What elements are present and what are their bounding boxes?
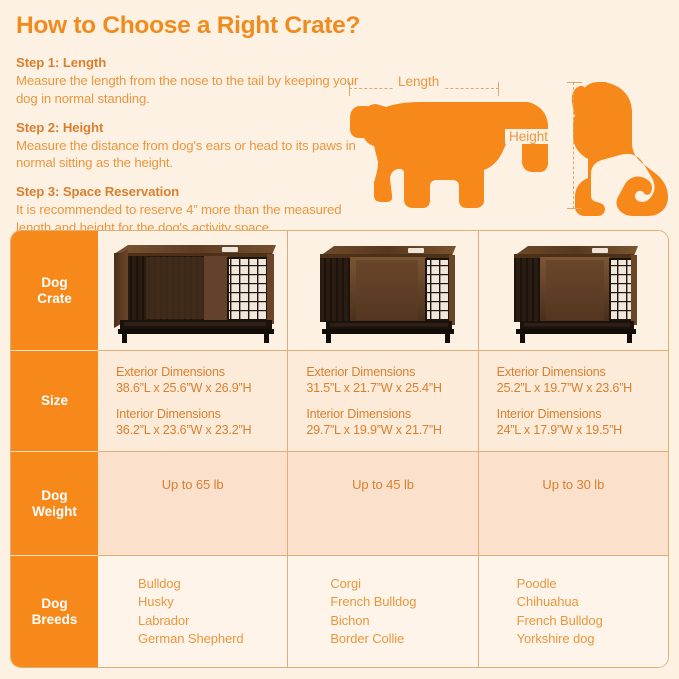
exterior-heading-medium: Exterior Dimensions <box>306 364 477 381</box>
interior-value-medium: 29.7”L x 19.9”W x 21.7”H <box>306 422 477 439</box>
breeds-cell-large: Bulldog Husky Labrador German Shepherd <box>98 556 288 667</box>
size-cell-small: Exterior Dimensions 25.2”L x 19.7”W x 23… <box>479 351 668 452</box>
height-label: Height <box>505 129 552 144</box>
size-cells: Exterior Dimensions 38.6”L x 25.6”W x 26… <box>98 351 668 452</box>
crate-cell-medium <box>288 231 478 351</box>
interior-dimensions-medium: Interior Dimensions 29.7”L x 19.9”W x 21… <box>288 406 477 439</box>
row-label-dog-weight-line2: Weight <box>32 504 77 519</box>
step-2-heading: Step 2: Height <box>16 119 376 136</box>
length-label: Length <box>394 74 443 89</box>
row-label-dog-weight-line1: Dog <box>41 488 67 503</box>
table-row-dog-weight: Dog Weight Up to 65 lb Up to 45 lb Up to… <box>11 452 668 556</box>
exterior-dimensions-large: Exterior Dimensions 38.6”L x 25.6”W x 26… <box>98 364 287 397</box>
step-2-body: Measure the distance from dog's ears or … <box>16 137 376 172</box>
breeds-cell-medium: Corgi French Bulldog Bichon Border Colli… <box>288 556 478 667</box>
interior-value-small: 24”L x 17.9”W x 19.5”H <box>497 422 668 439</box>
breed-item: French Bulldog <box>517 612 668 631</box>
breeds-list-small: Poodle Chihuahua French Bulldog Yorkshir… <box>479 575 668 649</box>
dog-sitting-silhouette-icon <box>572 82 668 216</box>
step-1-body: Measure the length from the nose to the … <box>16 72 376 107</box>
weight-cell-small: Up to 30 lb <box>479 452 668 556</box>
dog-standing-silhouette-icon <box>350 102 548 208</box>
exterior-value-large: 38.6”L x 25.6”W x 26.9”H <box>116 380 287 397</box>
row-label-dog-breeds-line2: Breeds <box>32 612 78 627</box>
interior-heading-small: Interior Dimensions <box>497 406 668 423</box>
exterior-heading-large: Exterior Dimensions <box>116 364 287 381</box>
row-label-dog-crate: Dog Crate <box>11 231 98 351</box>
infographic-page: How to Choose a Right Crate? Step 1: Len… <box>0 0 679 679</box>
crate-image-small <box>479 231 668 350</box>
crate-image-large <box>98 231 287 350</box>
breed-item: Chihuahua <box>517 593 668 612</box>
interior-heading-medium: Interior Dimensions <box>306 406 477 423</box>
breed-item: Corgi <box>330 575 477 594</box>
table-row-dog-crate: Dog Crate <box>11 231 668 351</box>
crate-comparison-table: Dog Crate <box>10 230 669 668</box>
weight-cell-medium: Up to 45 lb <box>288 452 478 556</box>
step-item-1: Step 1: Length Measure the length from t… <box>16 54 376 107</box>
length-rule-cap-right <box>498 82 499 96</box>
weight-value-large: Up to 65 lb <box>98 477 287 492</box>
row-label-size: Size <box>11 351 98 452</box>
row-label-dog-crate-line1: Dog <box>41 275 67 290</box>
height-rule-cap-top <box>567 82 582 83</box>
table-row-dog-breeds: Dog Breeds Bulldog Husky Labrador German… <box>11 556 668 667</box>
row-label-dog-weight: Dog Weight <box>11 452 98 556</box>
dog-weight-cells: Up to 65 lb Up to 45 lb Up to 30 lb <box>98 452 668 556</box>
height-rule-cap-bottom <box>567 208 582 209</box>
length-rule-cap-left <box>349 82 350 96</box>
crate-cell-small <box>479 231 668 351</box>
height-measure-rule <box>573 82 575 209</box>
breed-item: Poodle <box>517 575 668 594</box>
exterior-heading-small: Exterior Dimensions <box>497 364 668 381</box>
table-row-size: Size Exterior Dimensions 38.6”L x 25.6”W… <box>11 351 668 452</box>
row-label-dog-breeds: Dog Breeds <box>11 556 98 667</box>
exterior-dimensions-small: Exterior Dimensions 25.2”L x 19.7”W x 23… <box>479 364 668 397</box>
step-1-heading: Step 1: Length <box>16 54 376 71</box>
weight-value-medium: Up to 45 lb <box>288 477 477 492</box>
row-label-dog-breeds-line1: Dog <box>41 596 67 611</box>
dog-breeds-cells: Bulldog Husky Labrador German Shepherd C… <box>98 556 668 667</box>
step-item-2: Step 2: Height Measure the distance from… <box>16 119 376 172</box>
weight-cell-large: Up to 65 lb <box>98 452 288 556</box>
breed-item: Yorkshire dog <box>517 630 668 649</box>
breed-item: Bulldog <box>138 575 287 594</box>
crate-image-medium <box>288 231 477 350</box>
breeds-list-medium: Corgi French Bulldog Bichon Border Colli… <box>288 575 477 649</box>
interior-value-large: 36.2”L x 23.6”W x 23.2”H <box>116 422 287 439</box>
breeds-list-large: Bulldog Husky Labrador German Shepherd <box>98 575 287 649</box>
step-3-heading: Step 3: Space Reservation <box>16 183 376 200</box>
exterior-value-small: 25.2”L x 19.7”W x 23.6”H <box>497 380 668 397</box>
interior-dimensions-large: Interior Dimensions 36.2”L x 23.6”W x 23… <box>98 406 287 439</box>
dog-crate-cells <box>98 231 668 351</box>
breeds-cell-small: Poodle Chihuahua French Bulldog Yorkshir… <box>479 556 668 667</box>
dog-silhouettes-graphic <box>330 66 675 226</box>
size-cell-medium: Exterior Dimensions 31.5”L x 21.7”W x 25… <box>288 351 478 452</box>
breed-item: German Shepherd <box>138 630 287 649</box>
exterior-value-medium: 31.5”L x 21.7”W x 25.4”H <box>306 380 477 397</box>
crate-cell-large <box>98 231 288 351</box>
weight-value-small: Up to 30 lb <box>479 477 668 492</box>
interior-dimensions-small: Interior Dimensions 24”L x 17.9”W x 19.5… <box>479 406 668 439</box>
dog-crate-medium-photo <box>304 238 462 344</box>
step-item-3: Step 3: Space Reservation It is recommen… <box>16 183 376 236</box>
breed-item: French Bulldog <box>330 593 477 612</box>
size-cell-large: Exterior Dimensions 38.6”L x 25.6”W x 26… <box>98 351 288 452</box>
breed-item: Border Collie <box>330 630 477 649</box>
steps-list: Step 1: Length Measure the length from t… <box>16 54 376 248</box>
page-title: How to Choose a Right Crate? <box>16 12 360 40</box>
header-section: How to Choose a Right Crate? Step 1: Len… <box>0 0 679 228</box>
breed-item: Labrador <box>138 612 287 631</box>
dog-crate-large-photo <box>104 238 282 344</box>
dog-crate-small-photo <box>500 238 646 344</box>
row-label-dog-crate-line2: Crate <box>37 291 72 306</box>
exterior-dimensions-medium: Exterior Dimensions 31.5”L x 21.7”W x 25… <box>288 364 477 397</box>
breed-item: Bichon <box>330 612 477 631</box>
breed-item: Husky <box>138 593 287 612</box>
interior-heading-large: Interior Dimensions <box>116 406 287 423</box>
measurement-diagram: Length Height <box>330 66 675 226</box>
